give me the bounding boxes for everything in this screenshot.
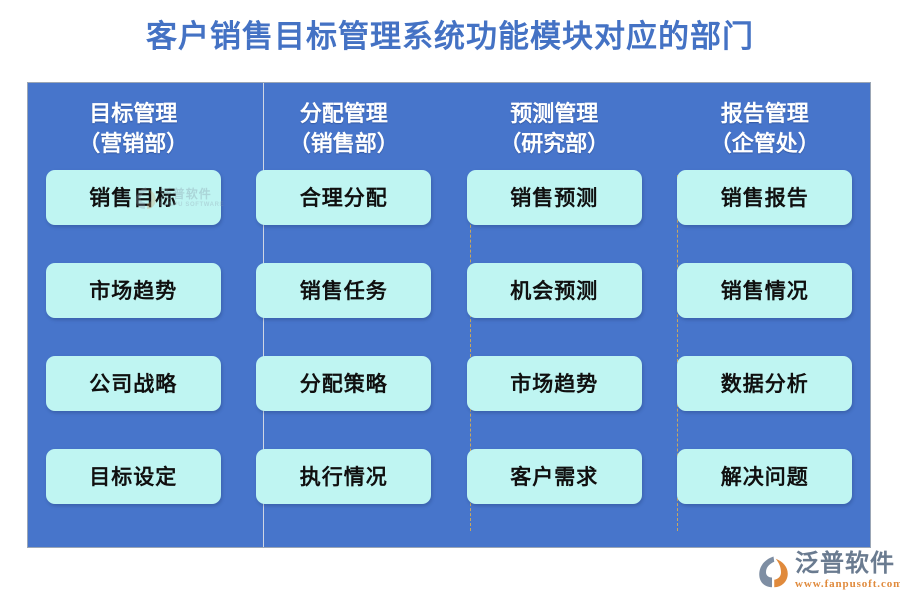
cell-list: 销售预测 机会预测 市场趋势 客户需求 [467, 170, 642, 504]
module-cell[interactable]: 机会预测 [467, 263, 642, 318]
column-header: 目标管理 （营销部） [78, 99, 188, 160]
module-cell-label: 公司战略 [89, 368, 177, 398]
column-header-line1: 分配管理 [289, 99, 399, 129]
module-cell[interactable]: 客户需求 [467, 449, 642, 504]
column-header-line1: 预测管理 [499, 99, 609, 129]
column-header-line2: （研究部） [499, 129, 609, 159]
module-cell-label: 销售预测 [510, 182, 598, 212]
column-report-management: 报告管理 （企管处） 销售报告 销售情况 数据分析 解决问题 [660, 83, 871, 547]
module-cell[interactable]: 销售情况 [677, 263, 852, 318]
module-cell[interactable]: 销售预测 [467, 170, 642, 225]
module-cell-label: 机会预测 [510, 275, 598, 305]
module-cell[interactable]: 执行情况 [256, 449, 431, 504]
module-cell-label: 分配策略 [300, 368, 388, 398]
module-cell[interactable]: 销售任务 [256, 263, 431, 318]
cell-list: 销售报告 销售情况 数据分析 解决问题 [677, 170, 852, 504]
module-cell[interactable]: 销售报告 [677, 170, 852, 225]
module-cell[interactable]: 市场趋势 [46, 263, 221, 318]
cell-list: 销售目标 泛普软件 FANPU SOFTWARE 市场趋势 [46, 170, 221, 504]
column-header-line1: 目标管理 [78, 99, 188, 129]
module-cell-label: 客户需求 [510, 461, 598, 491]
module-cell[interactable]: 分配策略 [256, 356, 431, 411]
module-cell[interactable]: 市场趋势 [467, 356, 642, 411]
column-header: 报告管理 （企管处） [710, 99, 820, 160]
column-header-line2: （营销部） [78, 129, 188, 159]
column-header-line2: （企管处） [710, 129, 820, 159]
column-header: 预测管理 （研究部） [499, 99, 609, 160]
column-header-line2: （销售部） [289, 129, 399, 159]
module-cell[interactable]: 公司战略 [46, 356, 221, 411]
module-cell[interactable]: 解决问题 [677, 449, 852, 504]
module-cell-label: 数据分析 [721, 368, 809, 398]
module-cell[interactable]: 目标设定 [46, 449, 221, 504]
module-cell[interactable]: 销售目标 泛普软件 FANPU SOFTWARE [46, 170, 221, 225]
module-cell-label: 解决问题 [721, 461, 809, 491]
fanpu-logo-text: 泛普软件 www.fanpusoft.com [795, 552, 900, 590]
module-cell-label: 目标设定 [89, 461, 177, 491]
fanpu-logo-url: www.fanpusoft.com [795, 579, 900, 590]
column-forecast-management: 预测管理 （研究部） 销售预测 机会预测 市场趋势 客户需求 [449, 83, 660, 547]
module-cell-label: 市场趋势 [510, 368, 598, 398]
diagram-board: 目标管理 （营销部） 销售目标 泛普软件 FANPU SOFTWARE [27, 82, 871, 548]
module-cell-label: 执行情况 [300, 461, 388, 491]
cell-list: 合理分配 销售任务 分配策略 执行情况 [256, 170, 431, 504]
fanpu-logo-name: 泛普软件 [795, 552, 900, 576]
column-allocation-management: 分配管理 （销售部） 合理分配 销售任务 分配策略 执行情况 [239, 83, 450, 547]
module-cell-label: 销售报告 [721, 182, 809, 212]
module-cell[interactable]: 数据分析 [677, 356, 852, 411]
module-cell-label: 销售任务 [300, 275, 388, 305]
module-cell-label: 销售情况 [721, 275, 809, 305]
module-cell-label: 销售目标 [89, 182, 177, 212]
column-container: 目标管理 （营销部） 销售目标 泛普软件 FANPU SOFTWARE [28, 83, 870, 547]
fanpu-logo: 泛普软件 www.fanpusoft.com [757, 552, 900, 590]
module-cell[interactable]: 合理分配 [256, 170, 431, 225]
column-header: 分配管理 （销售部） [289, 99, 399, 160]
column-goal-management: 目标管理 （营销部） 销售目标 泛普软件 FANPU SOFTWARE [28, 83, 239, 547]
fanpu-logo-icon [757, 555, 790, 588]
page-title: 客户销售目标管理系统功能模块对应的部门 [0, 18, 900, 57]
column-header-line1: 报告管理 [710, 99, 820, 129]
module-cell-label: 合理分配 [300, 182, 388, 212]
module-cell-label: 市场趋势 [89, 275, 177, 305]
